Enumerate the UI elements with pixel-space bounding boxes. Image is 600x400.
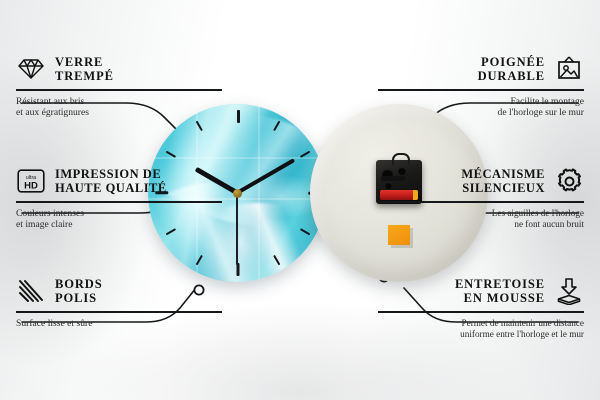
feature-title: ENTRETOISEEN MOUSSE <box>455 277 545 306</box>
feature-verre-trempe: VERRETREMPÉ Résistant aux briset aux égr… <box>16 54 222 119</box>
feature-description: Facilite le montagede l'horloge sur le m… <box>378 96 584 119</box>
hand-cap <box>233 189 242 198</box>
infographic-canvas: VERRETREMPÉ Résistant aux briset aux égr… <box>0 0 600 400</box>
hanger-hook-icon <box>392 153 410 165</box>
ultra-hd-icon: ultra HD <box>16 166 46 196</box>
feature-description: Permet de maintenir une distanceuniforme… <box>378 318 584 341</box>
divider <box>378 89 584 91</box>
divider <box>16 311 222 313</box>
divider <box>378 311 584 313</box>
feature-description: Couleurs intenseset image claire <box>16 208 222 231</box>
diamond-icon <box>16 54 46 84</box>
hour-marker <box>273 121 280 132</box>
divider <box>16 89 222 91</box>
divider <box>16 201 222 203</box>
feature-title-row: ultra HD IMPRESSION DEHAUTE QUALITÉ <box>16 166 222 196</box>
feature-title: MÉCANISMESILENCIEUX <box>461 167 545 196</box>
feature-title: BORDSPOLIS <box>55 277 103 306</box>
feature-entretoise-en-mousse: ENTRETOISEEN MOUSSE Permet de maintenir … <box>378 276 584 341</box>
minute-hand <box>236 158 295 194</box>
gear-icon <box>554 166 584 196</box>
feature-title-row: ENTRETOISEEN MOUSSE <box>378 276 584 306</box>
feature-title: VERRETREMPÉ <box>55 55 114 84</box>
feature-mecanisme-silencieux: MÉCANISMESILENCIEUX Les aiguilles de l'h… <box>378 166 584 231</box>
svg-text:HD: HD <box>24 181 38 192</box>
feature-title-row: MÉCANISMESILENCIEUX <box>378 166 584 196</box>
divider <box>378 201 584 203</box>
feature-bords-polis: BORDSPOLIS Surface lisse et sûre <box>16 276 222 329</box>
diagonal-lines-icon <box>16 276 46 306</box>
feature-title: IMPRESSION DEHAUTE QUALITÉ <box>55 167 167 196</box>
feature-title-row: POIGNÉEDURABLE <box>378 54 584 84</box>
feature-title-row: VERRETREMPÉ <box>16 54 222 84</box>
press-down-pad-icon <box>554 276 584 306</box>
feature-impression-haute-qualite: ultra HD IMPRESSION DEHAUTE QUALITÉ Coul… <box>16 166 222 231</box>
hour-marker <box>237 263 240 276</box>
hour-marker <box>300 228 311 235</box>
feature-description: Surface lisse et sûre <box>16 318 222 330</box>
feature-description: Résistant aux briset aux égratignures <box>16 96 222 119</box>
feature-title-row: BORDSPOLIS <box>16 276 222 306</box>
hour-marker <box>273 255 280 266</box>
feature-title: POIGNÉEDURABLE <box>478 55 545 84</box>
second-hand <box>236 193 238 265</box>
feature-description: Les aiguilles de l'horlogene font aucun … <box>378 208 584 231</box>
picture-hanger-icon <box>554 54 584 84</box>
hour-marker <box>237 110 240 123</box>
print-gridline <box>258 104 260 282</box>
feature-poignee-durable: POIGNÉEDURABLE Facilite le montagede l'h… <box>378 54 584 119</box>
